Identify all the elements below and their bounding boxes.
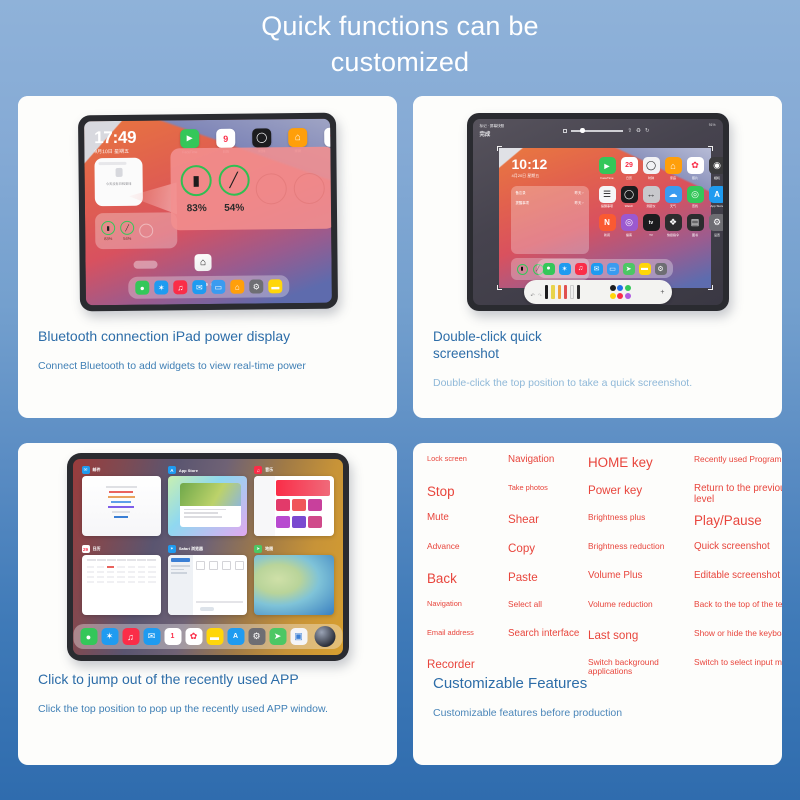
app-window-preview xyxy=(82,476,161,536)
page-title-line-2: customized xyxy=(0,44,800,80)
app-icon-podcasts[interactable]: ◎播客 xyxy=(621,214,638,237)
app-window-preview xyxy=(168,555,247,615)
bluetooth-card-media: 17:49 9月10日 星期五 ► FaceTime 9 日历 xyxy=(18,96,397,328)
app-card-safari[interactable]: ✶Safari 浏览器 xyxy=(168,545,247,616)
dock-icon-notes[interactable]: ▬ xyxy=(639,263,651,275)
note-row: 备忘录 昨天 › xyxy=(516,190,584,195)
battery-percent-ipad: 83% xyxy=(101,236,115,241)
page-header: Quick functions can be customized xyxy=(0,0,800,80)
tablet-icon: ▮ xyxy=(517,264,528,275)
pen-tool-black[interactable] xyxy=(545,285,548,299)
preview-app-grid: ►FaceTime 29日历 ◯时钟 ⌂家庭 ✿照片 ◉相机 ☰提醒事项 ◯Wa… xyxy=(599,157,723,237)
swatch-green[interactable] xyxy=(625,285,631,291)
dock-icon-notes[interactable]: ▬ xyxy=(206,628,223,645)
swatch-purple[interactable] xyxy=(625,293,631,299)
undo-icon[interactable]: ↶ xyxy=(531,293,535,299)
widget-note-text: 今天没有日程安排 xyxy=(98,181,138,186)
feature-item[interactable]: Take photos xyxy=(508,484,582,513)
app-icon-appstore[interactable]: AApp Store xyxy=(709,186,723,209)
screenshot-card-media: 标记 · 屏幕快照 完成 ⇧ ♻ ↻ 91% xyxy=(413,96,782,328)
app-window-preview xyxy=(254,555,333,615)
feature-item[interactable]: Volume Plus xyxy=(588,571,688,600)
calendar-icon: 29 xyxy=(82,545,90,553)
card-double-click-screenshot[interactable]: 标记 · 屏幕快照 完成 ⇧ ♻ ↻ 91% xyxy=(413,96,782,418)
app-icon-facetime[interactable]: ►FaceTime xyxy=(599,157,616,180)
feature-item[interactable]: Editable screenshot xyxy=(694,571,782,600)
markup-pen-tools: ↶ ↷ xyxy=(531,285,581,299)
rotate-icon[interactable]: ↻ xyxy=(645,128,650,134)
app-card-music[interactable]: ♫音乐 xyxy=(254,466,333,537)
battery-callout-panel: ▮ 83% ╱ 54% xyxy=(170,147,332,231)
empty-ring-icon xyxy=(255,173,286,204)
swatch-black[interactable] xyxy=(610,285,616,291)
screenshot-card-subtitle: Double-click the top position to take a … xyxy=(433,376,762,390)
app-icon-tv[interactable]: tvTV xyxy=(643,214,660,237)
markup-done-button[interactable]: 完成 xyxy=(480,132,505,138)
feature-item[interactable]: Paste xyxy=(508,571,582,600)
empty-ring-icon xyxy=(293,172,324,203)
feature-item[interactable]: Quick screenshot xyxy=(694,542,782,571)
screenshot-preview[interactable]: 10:12 4月20日 星期五 备忘录 昨天 › 提醒事项 昨天 › xyxy=(499,148,711,288)
app-card-appstore[interactable]: AApp Store xyxy=(168,466,247,537)
redo-icon[interactable]: ↷ xyxy=(538,293,542,299)
feature-item[interactable]: Navigation xyxy=(427,600,502,629)
app-icon-books[interactable]: ▤图书 xyxy=(687,214,704,237)
app-icon-weather[interactable]: ☁天气 xyxy=(665,186,682,209)
dock-icon-appstore[interactable]: A xyxy=(227,628,244,645)
app-icon-photos[interactable]: ✿照片 xyxy=(687,157,704,180)
feature-item-empty xyxy=(508,658,582,687)
trash-icon[interactable]: ♻ xyxy=(636,128,641,134)
card-bluetooth-power[interactable]: 17:49 9月10日 星期五 ► FaceTime 9 日历 xyxy=(18,96,397,418)
dock-icon-maps[interactable]: ➤ xyxy=(269,628,286,645)
music-icon: ♫ xyxy=(254,466,262,474)
ruler-tool[interactable] xyxy=(577,285,580,299)
dock-icon-notes[interactable]: ▬ xyxy=(268,279,282,293)
pencil-icon: ╱ xyxy=(120,221,134,235)
dock-icon-mail[interactable]: ✉ xyxy=(143,628,160,645)
ipad-status-block: 17:49 9月10日 星期五 xyxy=(94,129,136,156)
feature-item[interactable]: Brightness plus xyxy=(588,513,688,542)
ipad-screen-markup: 标记 · 屏幕快照 完成 ⇧ ♻ ↻ 91% xyxy=(473,119,723,305)
app-icon-camera[interactable]: ◉相机 xyxy=(709,157,723,180)
feature-item[interactable]: Brightness reduction xyxy=(588,542,688,571)
app-icon-finder[interactable]: ◎查找 xyxy=(687,186,704,209)
pen-tool-orange[interactable] xyxy=(558,285,561,299)
page-title-line-1: Quick functions can be xyxy=(0,8,800,44)
callout-percent-pencil: 54% xyxy=(218,202,250,213)
app-icon-shortcuts[interactable]: ❖快捷指令 xyxy=(665,214,682,237)
app-card-calendar[interactable]: 29日历 xyxy=(82,545,161,616)
dock-icon-messages[interactable]: ● xyxy=(135,281,149,295)
battery-entry-pencil: ╱ 54% xyxy=(120,221,134,241)
swatch-blue[interactable] xyxy=(617,285,623,291)
markup-tool-palette: ↶ ↷ xyxy=(524,280,672,304)
app-icon-news[interactable]: N新闻 xyxy=(599,214,616,237)
card-recent-apps[interactable]: ✉邮件 AApp Store xyxy=(18,443,397,765)
recent-apps-card-caption: Click to jump out of the recently used A… xyxy=(18,671,397,716)
markup-toolbar-right: ⇧ ♻ ↻ xyxy=(563,128,649,134)
app-window-preview xyxy=(168,476,247,536)
recent-apps-card-subtitle: Click the top position to pop up the rec… xyxy=(38,702,377,716)
zoom-slider[interactable] xyxy=(571,130,623,131)
empty-ring-icon xyxy=(139,224,153,238)
feature-item[interactable]: Shear xyxy=(508,513,582,542)
feature-item[interactable]: Recently used Program xyxy=(694,455,782,484)
ipad-dock: ● ✶ ♫ ✉ ▭ ⌂ ⚙ ▬ xyxy=(128,275,289,299)
add-markup-icon[interactable]: + xyxy=(660,289,664,296)
preview-dock: ● ✶ ♫ ✉ ▭ ➤ ▬ ⚙ xyxy=(537,259,673,278)
app-switcher-grid: ✉邮件 AApp Store xyxy=(82,466,334,616)
dock-icon-messages[interactable]: ● xyxy=(543,263,555,275)
dock-icon-files[interactable]: ▭ xyxy=(607,263,619,275)
feature-grid: Lock screen Navigation HOME key Recently… xyxy=(427,455,768,687)
note-title: 备忘录 xyxy=(516,190,526,195)
feature-item[interactable]: Copy xyxy=(508,542,582,571)
ipad-screen-home: 17:49 9月10日 星期五 ► FaceTime 9 日历 xyxy=(84,119,332,306)
dock-icon-safari[interactable]: ✶ xyxy=(559,263,571,275)
ipad-calendar-widget[interactable]: 今天没有日程安排 xyxy=(94,158,143,207)
dock-icon-music[interactable]: ♫ xyxy=(122,628,139,645)
dock-icon-settings[interactable]: ⚙ xyxy=(249,279,263,293)
feature-item[interactable]: Return to the previous level xyxy=(694,484,782,513)
dock-icon-mail[interactable]: ✉ xyxy=(591,263,603,275)
feature-item[interactable]: Switch background applications xyxy=(588,658,688,687)
feature-item[interactable]: HOME key xyxy=(588,455,688,484)
feature-item[interactable]: Power key xyxy=(588,484,688,513)
battery-entry-ipad: ▮ 83% xyxy=(101,221,115,241)
bluetooth-card-subtitle: Connect Bluetooth to add widgets to view… xyxy=(38,359,377,373)
maps-icon: ➤ xyxy=(254,545,262,553)
app-switcher-dock: ● ✶ ♫ ✉ 1 ✿ ▬ A ⚙ ➤ ▣ xyxy=(73,624,342,649)
note-row: 提醒事项 昨天 › xyxy=(516,200,584,205)
callout-percent-ipad: 83% xyxy=(180,202,212,213)
screenshot-card-caption: Double-click quick screenshot Double-cli… xyxy=(413,328,782,390)
preview-clock-date: 4月20日 星期五 xyxy=(512,173,540,179)
dock-icon-mail[interactable]: ✉ xyxy=(192,280,206,294)
tablet-icon: ▮ xyxy=(180,164,211,195)
app-icon-reminders[interactable]: ☰提醒事项 xyxy=(599,186,616,209)
ipad-clock-date: 9月10日 星期五 xyxy=(94,148,136,156)
dock-icon-music[interactable]: ♫ xyxy=(173,280,187,294)
crop-handle-br[interactable] xyxy=(708,285,713,290)
dock-icon-safari[interactable]: ✶ xyxy=(154,280,168,294)
note-meta: 昨天 › xyxy=(575,200,584,205)
recent-apps-card-media: ✉邮件 AApp Store xyxy=(18,443,397,671)
swatch-red[interactable] xyxy=(617,293,623,299)
app-card-maps[interactable]: ➤地图 xyxy=(254,545,333,616)
battery-percent-pencil: 54% xyxy=(120,236,134,241)
preview-clock-time: 10:12 xyxy=(512,157,548,172)
feature-item[interactable]: Stop xyxy=(427,484,502,513)
ipad-battery-widget[interactable]: ▮ 83% ╱ 54% xyxy=(95,212,177,249)
note-title: 提醒事项 xyxy=(516,200,530,205)
pencil-icon: ╱ xyxy=(218,164,249,195)
dock-icon-calendar[interactable]: 1 xyxy=(164,628,181,645)
dock-icon-music[interactable]: ♫ xyxy=(575,263,587,275)
feature-item[interactable]: Email address xyxy=(427,629,502,658)
dock-icon-safari[interactable]: ✶ xyxy=(101,628,118,645)
crop-handle-bl[interactable] xyxy=(497,285,502,290)
feature-item[interactable]: Last song xyxy=(588,629,688,658)
app-icon-measure[interactable]: ↔测距仪 xyxy=(643,186,660,209)
markup-toolbar: 标记 · 屏幕快照 完成 ⇧ ♻ ↻ 91% xyxy=(473,119,723,141)
crop-handle-tl[interactable] xyxy=(497,146,502,151)
dock-icon-photos[interactable]: ✿ xyxy=(185,628,202,645)
crop-handle-tr[interactable] xyxy=(708,146,713,151)
app-icon-watch[interactable]: ◯Watch xyxy=(621,186,638,209)
ipad-device-app-switcher: ✉邮件 AApp Store xyxy=(67,453,349,661)
dock-icon-settings[interactable]: ⚙ xyxy=(248,628,265,645)
dock-icon-contacts[interactable]: ▣ xyxy=(290,628,307,645)
app-icon-clock[interactable]: ◯时钟 xyxy=(643,157,660,180)
safari-icon: ✶ xyxy=(168,545,176,553)
ipad-screen-app-switcher: ✉邮件 AApp Store xyxy=(73,459,343,655)
ipad-device-bluetooth: 17:49 9月10日 星期五 ► FaceTime 9 日历 xyxy=(77,113,337,312)
callout-cell-pencil: ╱ 54% xyxy=(218,164,250,213)
dock-icon-messages[interactable]: ● xyxy=(80,628,97,645)
mail-icon: ✉ xyxy=(82,466,90,474)
ipad-device-screenshot: 标记 · 屏幕快照 完成 ⇧ ♻ ↻ 91% xyxy=(467,113,729,311)
dock-icon-maps[interactable]: ➤ xyxy=(623,263,635,275)
feature-item[interactable]: Select all xyxy=(508,600,582,629)
dock-icon-files[interactable]: ▭ xyxy=(211,280,225,294)
feature-word-cloud: Lock screen Navigation HOME key Recently… xyxy=(413,443,782,675)
ipad-clock-time: 17:49 xyxy=(94,129,136,147)
app-window-preview xyxy=(82,555,161,615)
recent-apps-card-title: Click to jump out of the recently used A… xyxy=(38,671,377,688)
battery-entry-empty-1 xyxy=(139,224,153,238)
feature-item[interactable]: Recorder xyxy=(427,658,502,687)
screenshot-card-title-1: Double-click quick xyxy=(433,328,762,345)
feature-item[interactable]: Search interface xyxy=(508,629,582,658)
feature-item[interactable]: Navigation xyxy=(508,455,582,484)
preview-notes-widget: 备忘录 昨天 › 提醒事项 昨天 › xyxy=(511,186,589,254)
dock-icon-settings[interactable]: ⚙ xyxy=(655,263,667,275)
dock-icon-home[interactable]: ⌂ xyxy=(230,280,244,294)
eraser-tool[interactable] xyxy=(570,285,573,299)
pen-tool-yellow[interactable] xyxy=(551,285,554,299)
tablet-icon: ▮ xyxy=(101,221,115,235)
crop-icon[interactable] xyxy=(563,129,567,133)
app-icon-home-large[interactable]: ⌂ xyxy=(194,254,211,271)
app-icon-calendar[interactable]: 29日历 xyxy=(621,157,638,180)
card-customizable-features[interactable]: Lock screen Navigation HOME key Recently… xyxy=(413,443,782,765)
callout-cell-ipad: ▮ 83% xyxy=(180,164,212,213)
pen-tool-red[interactable] xyxy=(564,285,567,299)
feature-item[interactable]: Show or hide the keyboard xyxy=(694,629,782,658)
swatch-yellow[interactable] xyxy=(610,293,616,299)
feature-item[interactable]: Lock screen xyxy=(427,455,502,484)
app-icon-settings[interactable]: ⚙设置 xyxy=(709,214,723,237)
feature-item[interactable]: Mute xyxy=(427,513,502,542)
note-meta: 昨天 › xyxy=(575,190,584,195)
app-card-mail[interactable]: ✉邮件 xyxy=(82,466,161,537)
bluetooth-card-title: Bluetooth connection iPad power display xyxy=(38,328,377,345)
feature-item[interactable]: Advance xyxy=(427,542,502,571)
markup-hint: 标记 · 屏幕快照 xyxy=(480,124,505,128)
markup-toolbar-left: 标记 · 屏幕快照 完成 xyxy=(480,123,505,138)
app-window-preview xyxy=(254,476,333,536)
app-icon-home[interactable]: ⌂家庭 xyxy=(665,157,682,180)
feature-item[interactable]: Volume reduction xyxy=(588,600,688,629)
callout-cell-empty-2 xyxy=(293,172,325,203)
appstore-icon: A xyxy=(168,466,176,474)
callout-cell-empty-1 xyxy=(255,173,287,204)
screenshot-card-title-2: screenshot xyxy=(433,345,762,362)
feature-item[interactable]: Play/Pause xyxy=(694,513,782,542)
customizable-card-subtitle: Customizable features before production xyxy=(433,706,762,720)
card-grid: 17:49 9月10日 星期五 ► FaceTime 9 日历 xyxy=(0,96,800,786)
feature-item[interactable]: Switch to select input method xyxy=(694,658,782,687)
share-icon[interactable]: ⇧ xyxy=(627,128,632,134)
ipad-widget-pill xyxy=(133,261,157,269)
feature-item[interactable]: Back xyxy=(427,571,502,600)
feature-item[interactable]: Back to the top of the text xyxy=(694,600,782,629)
bluetooth-card-caption: Bluetooth connection iPad power display … xyxy=(18,328,397,373)
status-battery: 91% xyxy=(709,123,716,127)
siri-icon[interactable] xyxy=(314,626,335,647)
markup-color-swatches xyxy=(610,285,631,299)
